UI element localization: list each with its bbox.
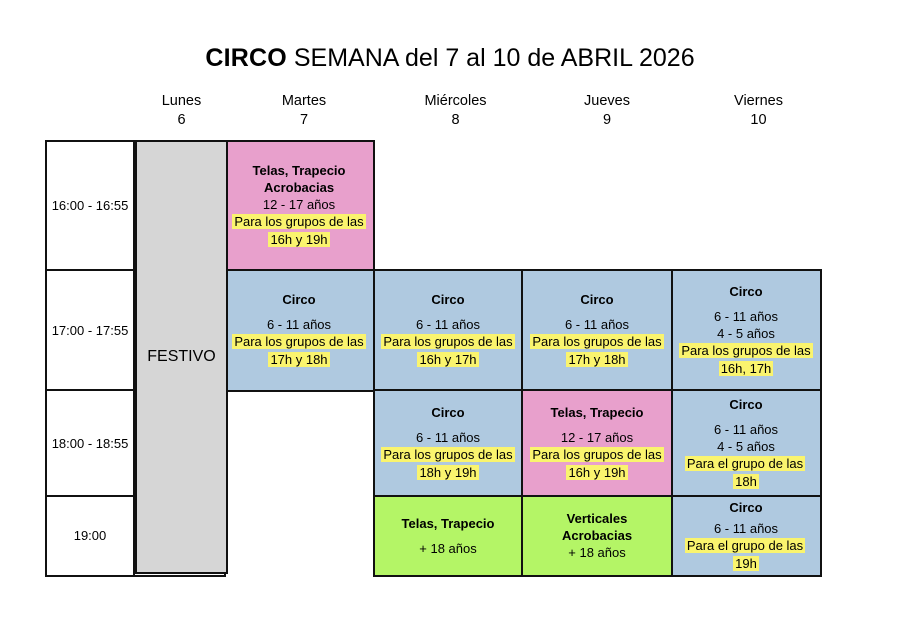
schedule-grid: 16:00 - 16:55 Telas, Trapecio Acrobacias… — [45, 140, 834, 574]
group-note-line-2: 16h y 19h — [268, 232, 329, 247]
day-name: Jueves — [531, 92, 683, 111]
cell-viernes-1700[interactable]: Circo 6 - 11 años 4 - 5 años Para los gr… — [671, 269, 822, 392]
age-range: 6 - 11 años — [714, 421, 778, 438]
cell-martes-1700[interactable]: Circo 6 - 11 años Para los grupos de las… — [223, 269, 375, 392]
group-note-line-2: 16h y 17h — [417, 352, 478, 367]
day-header-miercoles: Miércoles 8 — [380, 92, 531, 130]
age-range: 6 - 11 años — [565, 316, 629, 333]
cell-miercoles-1800[interactable]: Circo 6 - 11 años Para los grupos de las… — [373, 389, 524, 498]
activity-title: Circo — [580, 291, 613, 308]
age-range-2: 4 - 5 años — [717, 325, 775, 342]
activity-title: Verticales — [567, 510, 628, 527]
cell-viernes-1600-empty — [671, 140, 822, 272]
group-note-line-1: Para el grupo de las 19h — [685, 538, 805, 571]
age-range: 6 - 11 años — [714, 308, 778, 325]
group-note-line-1: Para los grupos de las — [679, 343, 812, 358]
cell-jueves-1600-empty — [521, 140, 673, 272]
time-label: 18:00 - 18:55 — [52, 435, 129, 452]
cell-martes-1600[interactable]: Telas, Trapecio Acrobacias 12 - 17 años … — [223, 140, 375, 272]
group-note-line-2: 17h y 18h — [566, 352, 627, 367]
time-label-cell-1600: 16:00 - 16:55 — [45, 140, 135, 272]
group-note: Para los grupos de las 16h y 19h — [226, 213, 372, 249]
cell-jueves-1800[interactable]: Telas, Trapecio 12 - 17 años Para los gr… — [521, 389, 673, 498]
activity-title: Circo — [729, 396, 762, 413]
day-number: 6 — [135, 111, 228, 130]
group-note: Para los grupos de las 17h y 18h — [524, 333, 670, 369]
age-range: 6 - 11 años — [267, 316, 331, 333]
age-range: + 18 años — [419, 540, 476, 557]
cell-martes-1800-empty — [223, 389, 375, 498]
age-range: 6 - 11 años — [416, 429, 480, 446]
activity-title: Circo — [431, 404, 464, 421]
group-note-line-2: 17h y 18h — [268, 352, 329, 367]
cell-jueves-1900[interactable]: Verticales Acrobacias + 18 años — [521, 495, 673, 577]
day-name: Viernes — [683, 92, 834, 111]
time-label: 19:00 — [74, 527, 107, 544]
activity-title: Circo — [729, 499, 762, 516]
day-number: 10 — [683, 111, 834, 130]
group-note-line-1: Para los grupos de las — [232, 214, 365, 229]
cell-jueves-1700[interactable]: Circo 6 - 11 años Para los grupos de las… — [521, 269, 673, 392]
day-name: Martes — [228, 92, 380, 111]
activity-title: Circo — [431, 291, 464, 308]
age-range: 12 - 17 años — [561, 429, 633, 446]
day-header-row: Lunes 6 Martes 7 Miércoles 8 Jueves 9 Vi… — [135, 92, 834, 130]
time-label-cell-1700: 17:00 - 17:55 — [45, 269, 135, 392]
activity-title: Circo — [729, 283, 762, 300]
day-number: 7 — [228, 111, 380, 130]
group-note-line-2: 18h y 19h — [417, 465, 478, 480]
day-header-lunes: Lunes 6 — [135, 92, 228, 130]
age-range: 6 - 11 años — [714, 520, 778, 537]
day-header-martes: Martes 7 — [228, 92, 380, 130]
group-note-line-2: 16h y 19h — [566, 465, 627, 480]
cell-miercoles-1700[interactable]: Circo 6 - 11 años Para los grupos de las… — [373, 269, 524, 392]
group-note: Para los grupos de las 16h y 19h — [524, 446, 670, 482]
age-range-2: 4 - 5 años — [717, 438, 775, 455]
activity-title-2: Acrobacias — [264, 179, 334, 196]
cell-martes-1900-empty — [223, 495, 375, 577]
group-note: Para el grupo de las 18h — [674, 455, 819, 491]
activity-title: Telas, Trapecio — [253, 162, 346, 179]
group-note-line-1: Para los grupos de las — [530, 447, 663, 462]
group-note-line-2: 16h, 17h — [719, 361, 774, 376]
time-label: 16:00 - 16:55 — [52, 197, 129, 214]
group-note-line-1: Para los grupos de las — [381, 334, 514, 349]
activity-title: Circo — [282, 291, 315, 308]
festivo-cell: FESTIVO — [135, 140, 228, 574]
page-title-rest: SEMANA del 7 al 10 de ABRIL 2026 — [287, 44, 695, 72]
activity-title: Telas, Trapecio — [551, 404, 644, 421]
group-note: Para los grupos de las 17h y 18h — [226, 333, 372, 369]
cell-miercoles-1600-empty — [373, 140, 524, 272]
page-title: CIRCO SEMANA del 7 al 10 de ABRIL 2026 — [0, 44, 900, 73]
group-note-line-1: Para el grupo de las 18h — [685, 456, 805, 489]
cell-viernes-1900[interactable]: Circo 6 - 11 años Para el grupo de las 1… — [671, 495, 822, 577]
group-note: Para el grupo de las 19h — [674, 537, 819, 573]
group-note-line-1: Para los grupos de las — [381, 447, 514, 462]
day-name: Miércoles — [380, 92, 531, 111]
day-header-jueves: Jueves 9 — [531, 92, 683, 130]
festivo-label: FESTIVO — [147, 348, 215, 366]
group-note: Para los grupos de las 18h y 19h — [376, 446, 521, 482]
age-range: 6 - 11 años — [416, 316, 480, 333]
day-header-viernes: Viernes 10 — [683, 92, 834, 130]
age-range: 12 - 17 años — [263, 196, 335, 213]
group-note: Para los grupos de las 16h, 17h — [674, 342, 819, 378]
time-label-cell-1900: 19:00 — [45, 495, 135, 577]
cell-viernes-1800[interactable]: Circo 6 - 11 años 4 - 5 años Para el gru… — [671, 389, 822, 498]
day-number: 9 — [531, 111, 683, 130]
activity-title-2: Acrobacias — [562, 527, 632, 544]
group-note-line-1: Para los grupos de las — [232, 334, 365, 349]
group-note: Para los grupos de las 16h y 17h — [376, 333, 521, 369]
day-number: 8 — [380, 111, 531, 130]
age-range: + 18 años — [568, 544, 625, 561]
group-note-line-1: Para los grupos de las — [530, 334, 663, 349]
page-title-strong: CIRCO — [205, 44, 287, 72]
day-name: Lunes — [135, 92, 228, 111]
time-label: 17:00 - 17:55 — [52, 322, 129, 339]
cell-miercoles-1900[interactable]: Telas, Trapecio + 18 años — [373, 495, 524, 577]
time-label-cell-1800: 18:00 - 18:55 — [45, 389, 135, 498]
activity-title: Telas, Trapecio — [402, 515, 495, 532]
